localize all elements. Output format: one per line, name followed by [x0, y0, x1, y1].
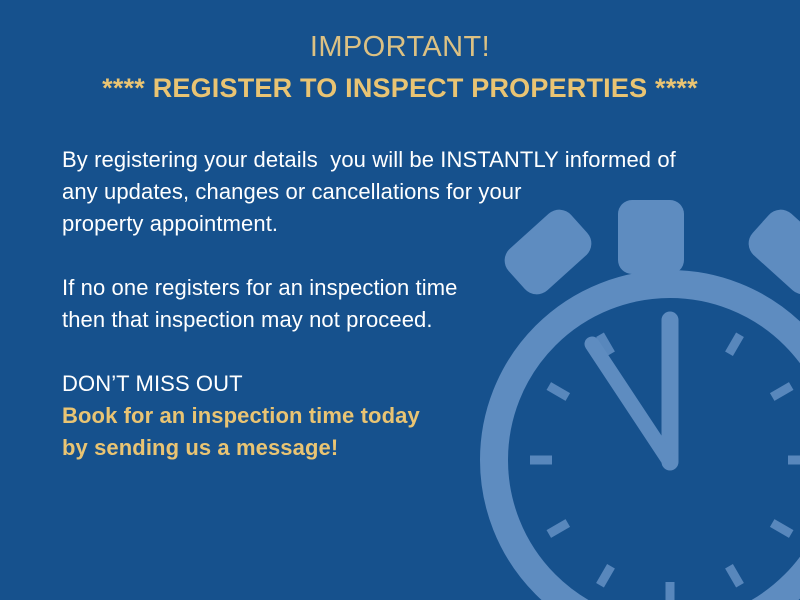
paragraph2-line1: If no one registers for an inspection ti…: [62, 272, 722, 304]
paragraph2-line2: then that inspection may not proceed.: [62, 304, 722, 336]
paragraph1-line3: property appointment.: [62, 208, 722, 240]
cta-dont-miss-out: DON’T MISS OUT: [62, 368, 722, 400]
paragraph1-line2: any updates, changes or cancellations fo…: [62, 176, 722, 208]
stopwatch-right-lug: [742, 203, 800, 301]
paragraph-spacer-2: [62, 336, 722, 368]
paragraph1-line1: By registering your details you will be …: [62, 144, 722, 176]
paragraph-no-registration-warning: If no one registers for an inspection ti…: [62, 272, 722, 336]
call-to-action-block: DON’T MISS OUT Book for an inspection ti…: [62, 368, 722, 464]
page-subtitle-register: **** REGISTER TO INSPECT PROPERTIES ****: [0, 70, 800, 106]
body-block: By registering your details you will be …: [62, 144, 722, 464]
promotional-slide: IMPORTANT! **** REGISTER TO INSPECT PROP…: [0, 0, 800, 600]
paragraph-registering-details: By registering your details you will be …: [62, 144, 722, 240]
paragraph-spacer-1: [62, 240, 722, 272]
cta-book-inspection: Book for an inspection time today: [62, 400, 722, 432]
cta-send-message: by sending us a message!: [62, 432, 722, 464]
page-title-important: IMPORTANT!: [0, 28, 800, 66]
heading-block: IMPORTANT! **** REGISTER TO INSPECT PROP…: [0, 28, 800, 106]
